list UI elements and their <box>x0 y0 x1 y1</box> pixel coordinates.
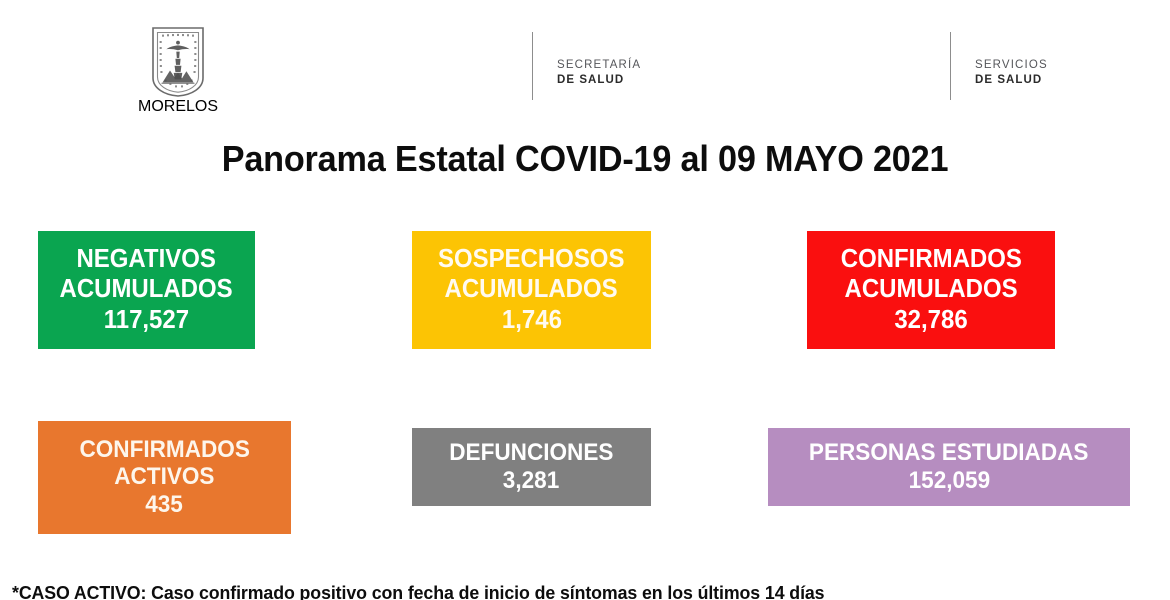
stat-card-negativos-acumulados: NEGATIVOS ACUMULADOS 117,527 <box>38 231 255 349</box>
secretaria-de-salud-logo: SECRETARÍA DE SALUD <box>532 58 641 88</box>
page-title: Panorama Estatal COVID-19 al 09 MAYO 202… <box>29 138 1141 180</box>
stat-label-line2: ACUMULADOS <box>60 275 233 305</box>
stat-card-confirmados-activos: CONFIRMADOS ACTIVOS 435 <box>38 421 291 534</box>
stat-value: 152,059 <box>908 467 990 495</box>
stat-label-line1: DEFUNCIONES <box>449 439 613 467</box>
stat-label-line1: CONFIRMADOS <box>840 245 1021 275</box>
stat-label-line1: NEGATIVOS <box>77 245 216 275</box>
servicios-line2: DE SALUD <box>975 73 1048 88</box>
stat-value: 32,786 <box>894 305 967 335</box>
stat-label-line1: SOSPECHOSOS <box>438 245 624 275</box>
stat-card-defunciones: DEFUNCIONES 3,281 <box>412 428 651 506</box>
divider <box>950 32 951 100</box>
stat-label-line1: CONFIRMADOS <box>79 436 249 464</box>
servicios-de-salud-logo: SERVICIOS DE SALUD <box>950 58 1048 88</box>
morelos-logo: MORELOS <box>118 26 238 116</box>
stat-value: 435 <box>146 491 184 519</box>
stat-card-confirmados-acumulados: CONFIRMADOS ACUMULADOS 32,786 <box>807 231 1055 349</box>
stat-label-line2: ACTIVOS <box>114 463 214 491</box>
stat-value: 3,281 <box>503 467 559 495</box>
stat-card-personas-estudiadas: PERSONAS ESTUDIADAS 152,059 <box>768 428 1130 506</box>
stat-value: 1,746 <box>502 305 562 335</box>
footnote-caso-activo: *CASO ACTIVO: Caso confirmado positivo c… <box>12 582 1116 600</box>
divider <box>532 32 533 100</box>
secretaria-line1: SECRETARÍA <box>557 58 641 73</box>
stat-value: 117,527 <box>104 305 189 335</box>
secretaria-line2: DE SALUD <box>557 73 641 88</box>
header: MORELOS SECRETARÍA DE SALUD SERVICIOS DE… <box>0 0 1170 128</box>
morelos-label: MORELOS <box>118 98 238 116</box>
stat-label-line1: PERSONAS ESTUDIADAS <box>809 439 1089 467</box>
stat-label-line2: ACUMULADOS <box>844 275 1017 305</box>
servicios-line1: SERVICIOS <box>975 58 1048 73</box>
stat-card-sospechosos-acumulados: SOSPECHOSOS ACUMULADOS 1,746 <box>412 231 651 349</box>
morelos-coat-of-arms-icon <box>150 26 206 98</box>
covid-panorama-slide: MORELOS SECRETARÍA DE SALUD SERVICIOS DE… <box>0 0 1170 600</box>
stat-label-line2: ACUMULADOS <box>445 275 618 305</box>
